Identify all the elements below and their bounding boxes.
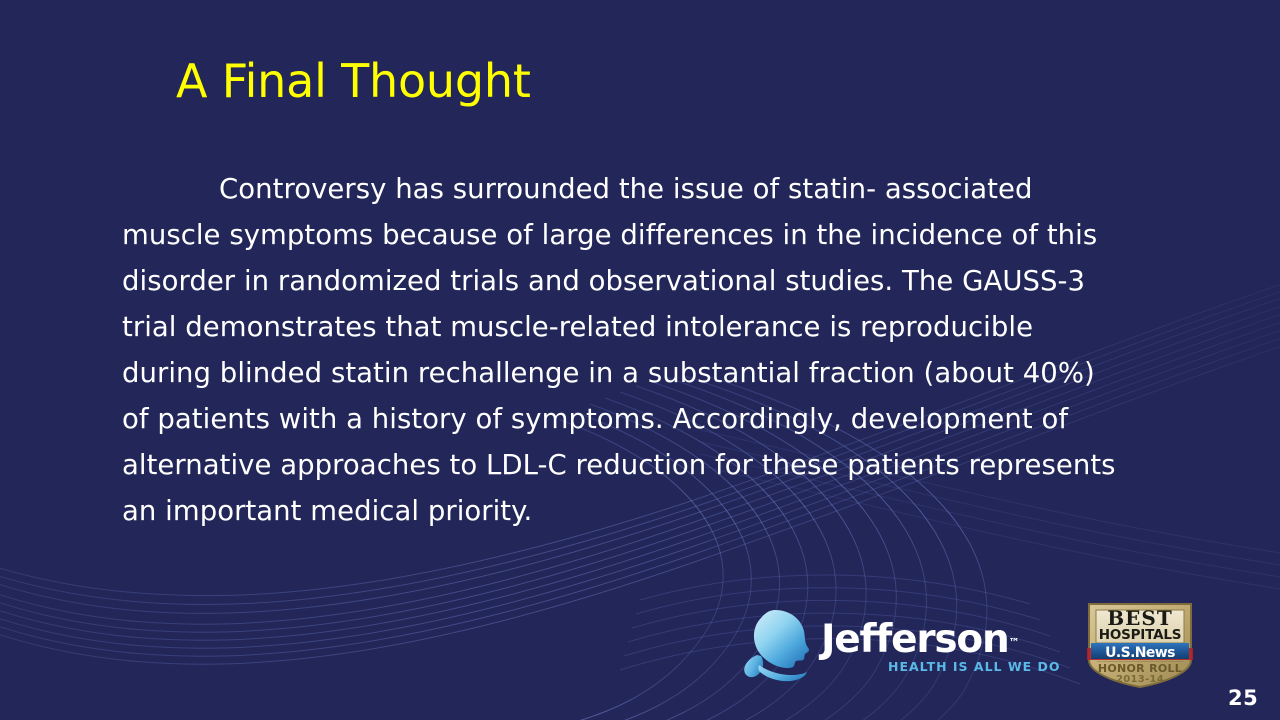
jefferson-wordmark: Jefferson™ xyxy=(821,620,1020,659)
page-number: 25 xyxy=(1228,686,1258,710)
body-line: disorder in randomized trials and observ… xyxy=(122,258,1172,304)
badge-shield-shape xyxy=(1087,602,1193,688)
jefferson-tagline: HEALTH IS ALL WE DO xyxy=(888,661,1061,674)
body-line: of patients with a history of symptoms. … xyxy=(122,396,1172,442)
presentation-slide: A Final Thought Controversy has surround… xyxy=(0,0,1280,720)
jefferson-wordmark-text: Jefferson xyxy=(821,617,1009,662)
body-line: trial demonstrates that muscle-related i… xyxy=(122,304,1172,350)
jefferson-profile-silhouette-icon xyxy=(735,608,821,682)
body-line: alternative approaches to LDL-C reductio… xyxy=(122,442,1172,488)
body-line: during blinded statin rechallenge in a s… xyxy=(122,350,1172,396)
body-line: muscle symptoms because of large differe… xyxy=(122,212,1172,258)
body-line: Controversy has surrounded the issue of … xyxy=(122,166,1172,212)
slide-body-text: Controversy has surrounded the issue of … xyxy=(122,166,1172,534)
trademark-symbol: ™ xyxy=(1009,636,1020,649)
usnews-best-hospitals-badge: BEST HOSPITALS U.S.News HONOR ROLL 2013-… xyxy=(1087,602,1193,688)
slide-title: A Final Thought xyxy=(176,56,531,108)
body-line: an important medical priority. xyxy=(122,488,1172,534)
jefferson-logo: Jefferson™ HEALTH IS ALL WE DO xyxy=(735,608,1015,686)
